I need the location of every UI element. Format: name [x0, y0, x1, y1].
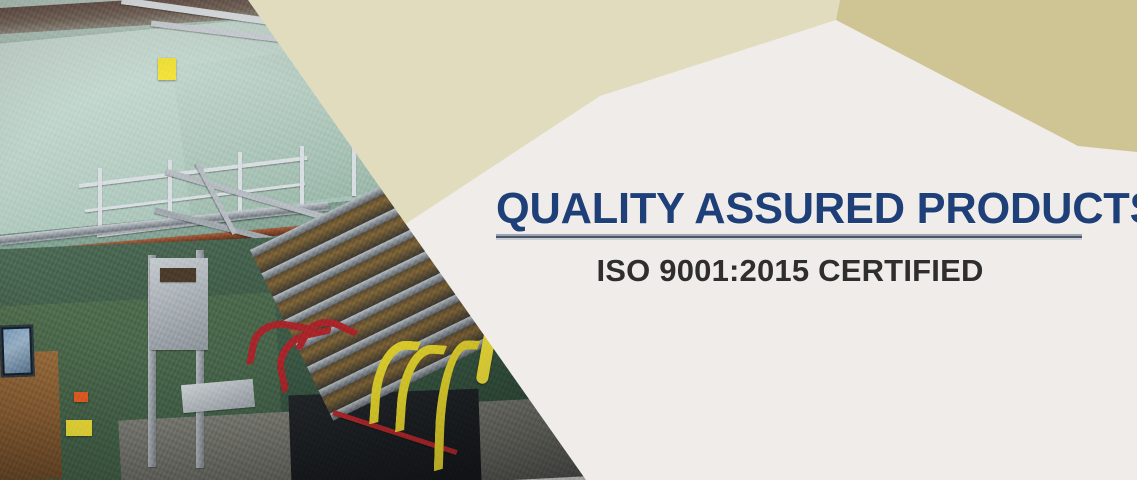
page-title: QUALITY ASSURED PRODUCTS — [496, 186, 1075, 232]
quality-assured-products-banner: QUALITY ASSURED PRODUCTS ISO 9001:2015 C… — [0, 0, 1137, 480]
certification-subtitle: ISO 9001:2015 CERTIFIED — [496, 252, 1084, 290]
headline-divider-bottom — [496, 238, 1082, 240]
headline-divider — [496, 234, 1082, 240]
banner-content: QUALITY ASSURED PRODUCTS ISO 9001:2015 C… — [0, 0, 1137, 480]
